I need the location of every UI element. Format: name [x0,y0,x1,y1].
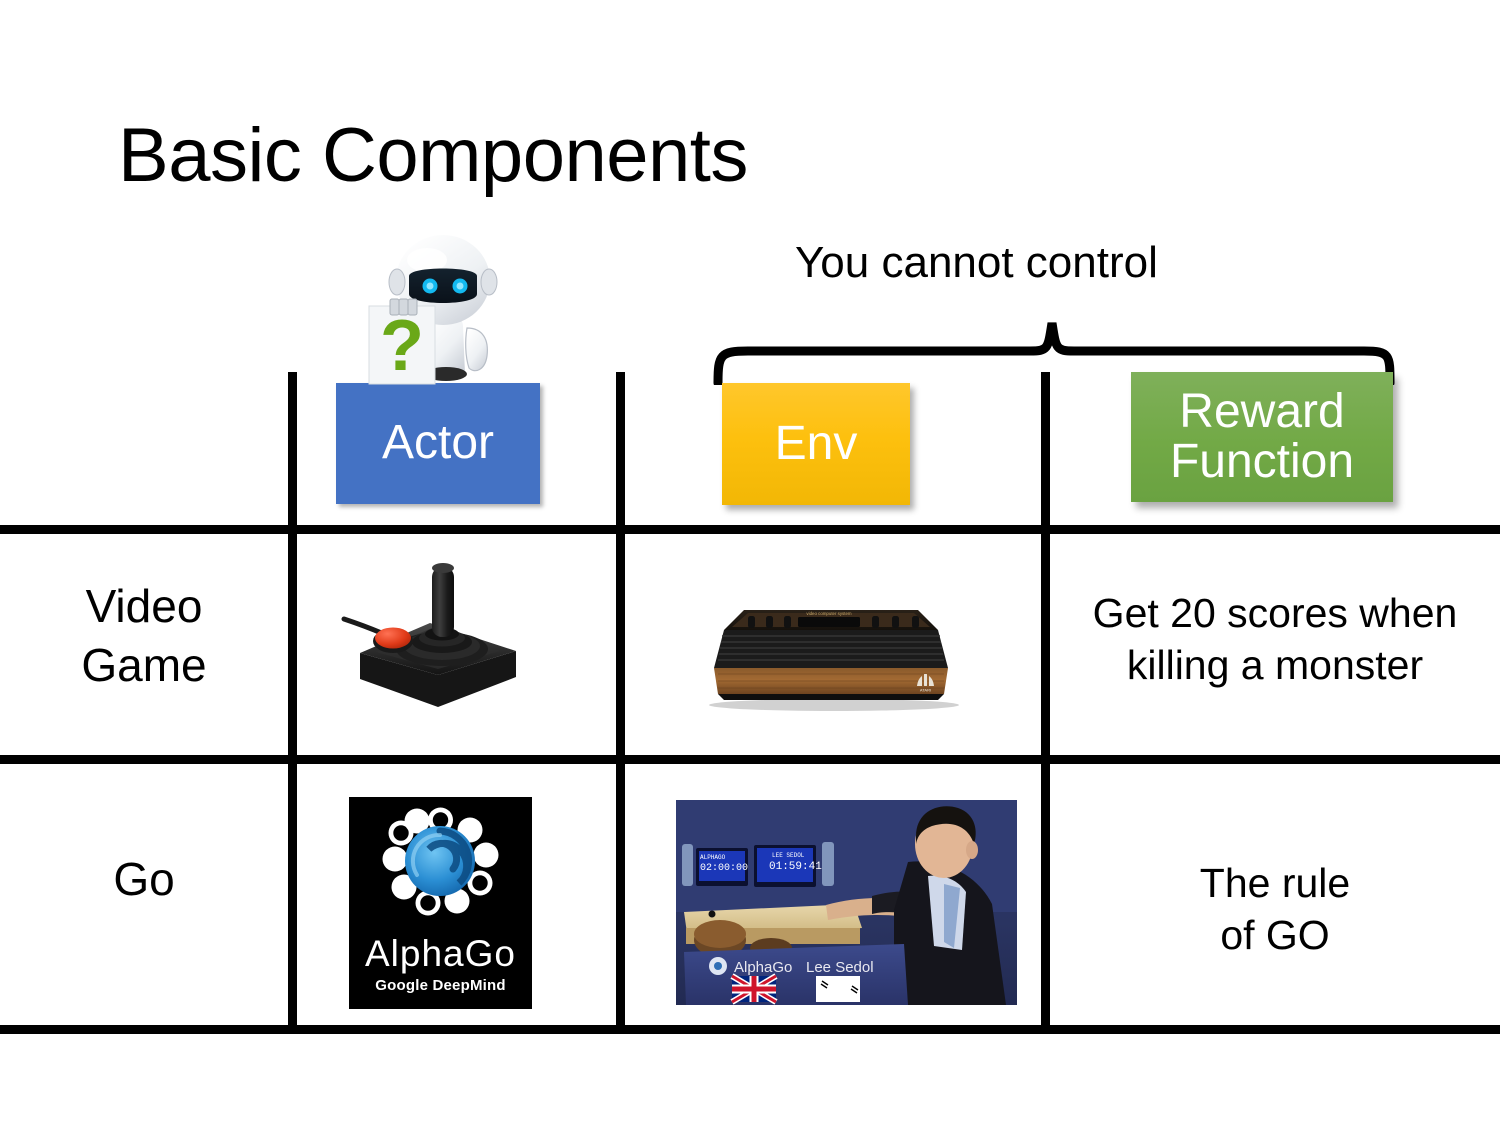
reward-cell-video-game-line1: Get 20 scores when [1050,587,1500,639]
reward-cell-video-game: Get 20 scores when killing a monster [1050,587,1500,692]
lee-sedol-match-photo: ALPHAGO 02:00:00 LEE SEDOL 01:59:41 Alph… [676,800,1017,1005]
cannot-control-caption: You cannot control [795,238,1158,288]
row-label-go-line1: Go [0,850,288,909]
actor-label-box: Actor [336,383,540,504]
row-label-video-game-line2: Game [0,636,288,695]
monitor-right-player: LEE SEDOL [772,852,804,859]
env-label-box: Env [722,383,910,505]
row-label-video-game-line1: Video [0,577,288,636]
table-row-divider [0,755,1500,764]
atari-joystick-image [338,557,543,727]
monitor-left-player: ALPHAGO [700,854,725,861]
table-header-divider [0,525,1500,534]
page-title: Basic Components [118,112,748,199]
monitor-right-clock: 01:59:41 [769,861,822,873]
table-column-divider-1 [288,372,297,1034]
reward-label-line2: Function [1170,437,1354,487]
svg-text:ATARI: ATARI [920,688,931,693]
alphago-wordmark: AlphaGo [349,933,532,975]
robot-actor-image: ? [357,228,522,388]
alphago-stone-ring-icon [349,797,532,927]
reward-function-label-box: Reward Function [1131,372,1393,502]
actor-label: Actor [382,418,494,468]
row-label-video-game: Video Game [0,577,288,695]
reward-cell-go-line1: The rule [1050,857,1500,909]
placard-lee-sedol-label: Lee Sedol [806,959,874,976]
row-label-go: Go [0,850,288,909]
table-column-divider-3 [1041,372,1050,1034]
table-column-divider-2 [616,372,625,1034]
svg-text:video computer system: video computer system [806,611,851,616]
question-mark-glyph: ? [380,306,424,386]
table-bottom-border [0,1025,1500,1034]
reward-cell-go-line2: of GO [1050,909,1500,961]
google-deepmind-wordmark: Google DeepMind [349,977,532,994]
reward-cell-go: The rule of GO [1050,857,1500,962]
env-label: Env [775,419,858,469]
components-table: Actor Env Reward Function Video Game Go … [0,372,1500,1034]
placard-alphago-label: AlphaGo [734,959,792,976]
monitor-left-clock: 02:00:00 [700,863,748,874]
reward-cell-video-game-line2: killing a monster [1050,639,1500,691]
atari-2600-console-image: video computer system [686,592,976,712]
reward-label-line1: Reward [1179,387,1344,437]
alphago-logo-image: AlphaGo Google DeepMind [349,797,532,1009]
